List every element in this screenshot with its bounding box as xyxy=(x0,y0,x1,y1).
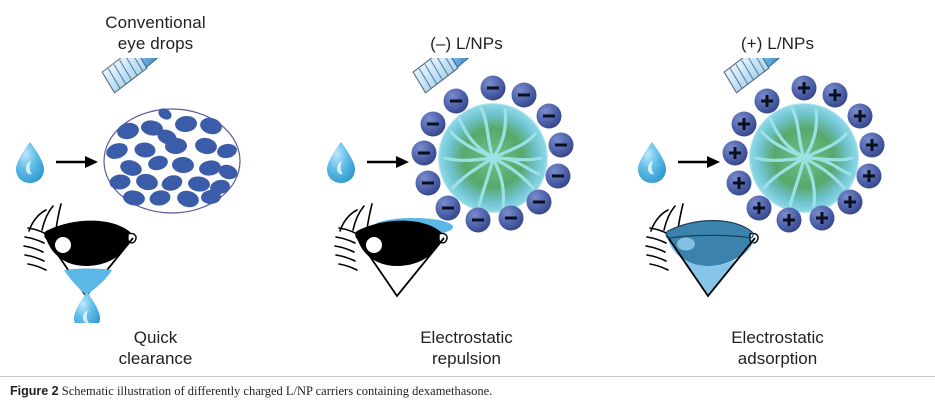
panel-title-line1: (–) L/NPs xyxy=(430,34,503,53)
artwork-negative xyxy=(311,58,622,323)
dropper-bottle-icon xyxy=(410,58,487,94)
eye-icon xyxy=(24,204,136,323)
panel-caption-line1: Quick xyxy=(134,328,177,347)
right-arrow-icon xyxy=(56,156,98,168)
panel-title-negative: (–) L/NPs xyxy=(311,33,622,54)
panel-caption-conventional: Quick clearance xyxy=(0,327,311,369)
panel-positive-lnps: (+) L/NPs xyxy=(622,0,933,370)
figure-caption-bar: Figure 2 Schematic illustration of diffe… xyxy=(0,376,935,405)
water-droplet-icon xyxy=(16,142,44,183)
panel-title-line2: eye drops xyxy=(118,34,194,53)
panel-title-positive: (+) L/NPs xyxy=(622,33,933,54)
figure-caption: Figure 2 Schematic illustration of diffe… xyxy=(10,384,492,399)
panel-title-conventional: Conventional eye drops xyxy=(0,12,311,54)
panel-title-line1: (+) L/NPs xyxy=(741,34,814,53)
dropper-bottle-icon xyxy=(721,58,798,94)
artwork-conventional xyxy=(0,58,311,323)
figure-2: Conventional eye drops xyxy=(0,0,935,405)
tear-droplet-icon xyxy=(74,292,100,323)
right-arrow-icon xyxy=(367,156,409,168)
panel-caption-line2: repulsion xyxy=(432,349,501,368)
dropper-bottle-icon xyxy=(99,58,176,94)
svg-negative xyxy=(311,58,622,323)
svg-positive xyxy=(622,58,933,323)
panel-title-line1: Conventional xyxy=(105,13,205,32)
panel-caption-line1: Electrostatic xyxy=(731,328,824,347)
panel-caption-line1: Electrostatic xyxy=(420,328,513,347)
panel-caption-line2: clearance xyxy=(119,349,193,368)
svg-conventional xyxy=(0,58,311,323)
figure-caption-body: Schematic illustration of differently ch… xyxy=(62,384,493,398)
eye-icon xyxy=(646,204,758,296)
panel-caption-negative: Electrostatic repulsion xyxy=(311,327,622,369)
drug-dispersion-icon xyxy=(104,106,240,213)
panel-negative-lnps: (–) L/NPs xyxy=(311,0,622,370)
nanoparticle-icon xyxy=(723,76,885,233)
panel-caption-positive: Electrostatic adsorption xyxy=(622,327,933,369)
artwork-positive xyxy=(622,58,933,323)
water-droplet-icon xyxy=(327,142,355,183)
panel-caption-line2: adsorption xyxy=(738,349,817,368)
water-droplet-icon xyxy=(638,142,666,183)
nanoparticle-icon xyxy=(412,76,574,233)
panel-conventional: Conventional eye drops xyxy=(0,0,311,370)
eye-icon xyxy=(335,204,453,296)
right-arrow-icon xyxy=(678,156,720,168)
figure-caption-label: Figure 2 xyxy=(10,384,59,398)
